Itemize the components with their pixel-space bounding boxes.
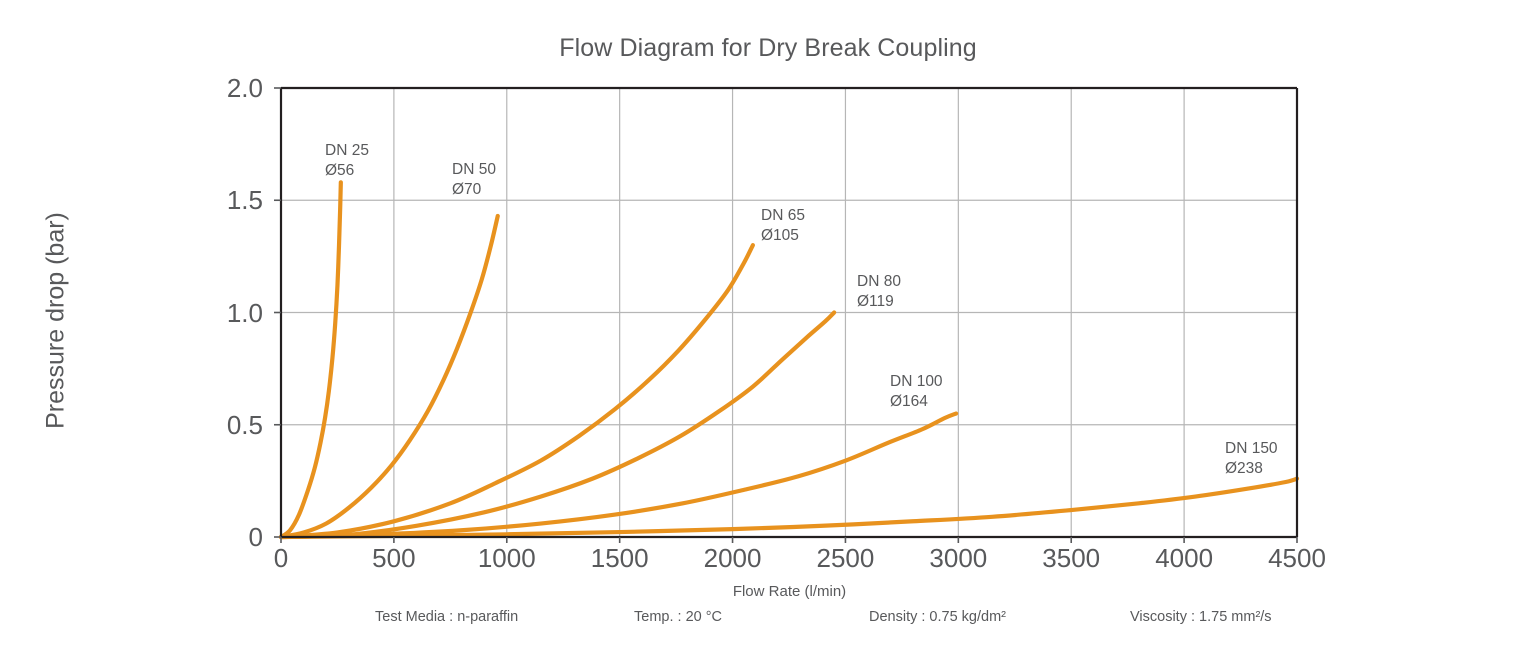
series-label-dn-65: DN 65Ø105 bbox=[761, 206, 805, 246]
series-label-diameter: Ø119 bbox=[857, 292, 901, 312]
series-label-name: DN 150 bbox=[1225, 439, 1278, 459]
series-label-diameter: Ø164 bbox=[890, 392, 943, 412]
series-label-diameter: Ø70 bbox=[452, 180, 496, 200]
footnote-item: Test Media : n-paraffin bbox=[375, 609, 518, 625]
series-label-name: DN 80 bbox=[857, 272, 901, 292]
footnote-item: Viscosity : 1.75 mm²/s bbox=[1130, 609, 1272, 625]
series-label-diameter: Ø238 bbox=[1225, 459, 1278, 479]
series-label-diameter: Ø56 bbox=[325, 161, 369, 181]
y-tick-label: 0.5 bbox=[203, 412, 263, 438]
x-tick-label: 3500 bbox=[1011, 545, 1131, 571]
series-label-dn-80: DN 80Ø119 bbox=[857, 272, 901, 312]
flow-diagram-figure: Flow Diagram for Dry Break Coupling Pres… bbox=[0, 0, 1536, 668]
series-label-name: DN 100 bbox=[890, 372, 943, 392]
y-tick-label: 2.0 bbox=[203, 75, 263, 101]
x-tick-label: 4000 bbox=[1124, 545, 1244, 571]
x-tick-label: 4500 bbox=[1237, 545, 1357, 571]
series-label-dn-25: DN 25Ø56 bbox=[325, 141, 369, 181]
footnote-item: Temp. : 20 °C bbox=[634, 609, 722, 625]
x-tick-label: 0 bbox=[221, 545, 341, 571]
y-tick-label: 1.5 bbox=[203, 187, 263, 213]
x-tick-label: 2000 bbox=[673, 545, 793, 571]
y-tick-label: 1.0 bbox=[203, 300, 263, 326]
x-tick-label: 1500 bbox=[560, 545, 680, 571]
series-label-dn-100: DN 100Ø164 bbox=[890, 372, 943, 412]
x-tick-label: 3000 bbox=[898, 545, 1018, 571]
series-label-dn-150: DN 150Ø238 bbox=[1225, 439, 1278, 479]
series-label-diameter: Ø105 bbox=[761, 226, 805, 246]
x-tick-label: 500 bbox=[334, 545, 454, 571]
series-label-name: DN 50 bbox=[452, 160, 496, 180]
series-label-dn-50: DN 50Ø70 bbox=[452, 160, 496, 200]
x-tick-label: 2500 bbox=[785, 545, 905, 571]
series-label-name: DN 65 bbox=[761, 206, 805, 226]
x-tick-label: 1000 bbox=[447, 545, 567, 571]
footnote-item: Density : 0.75 kg/dm² bbox=[869, 609, 1006, 625]
series-label-name: DN 25 bbox=[325, 141, 369, 161]
